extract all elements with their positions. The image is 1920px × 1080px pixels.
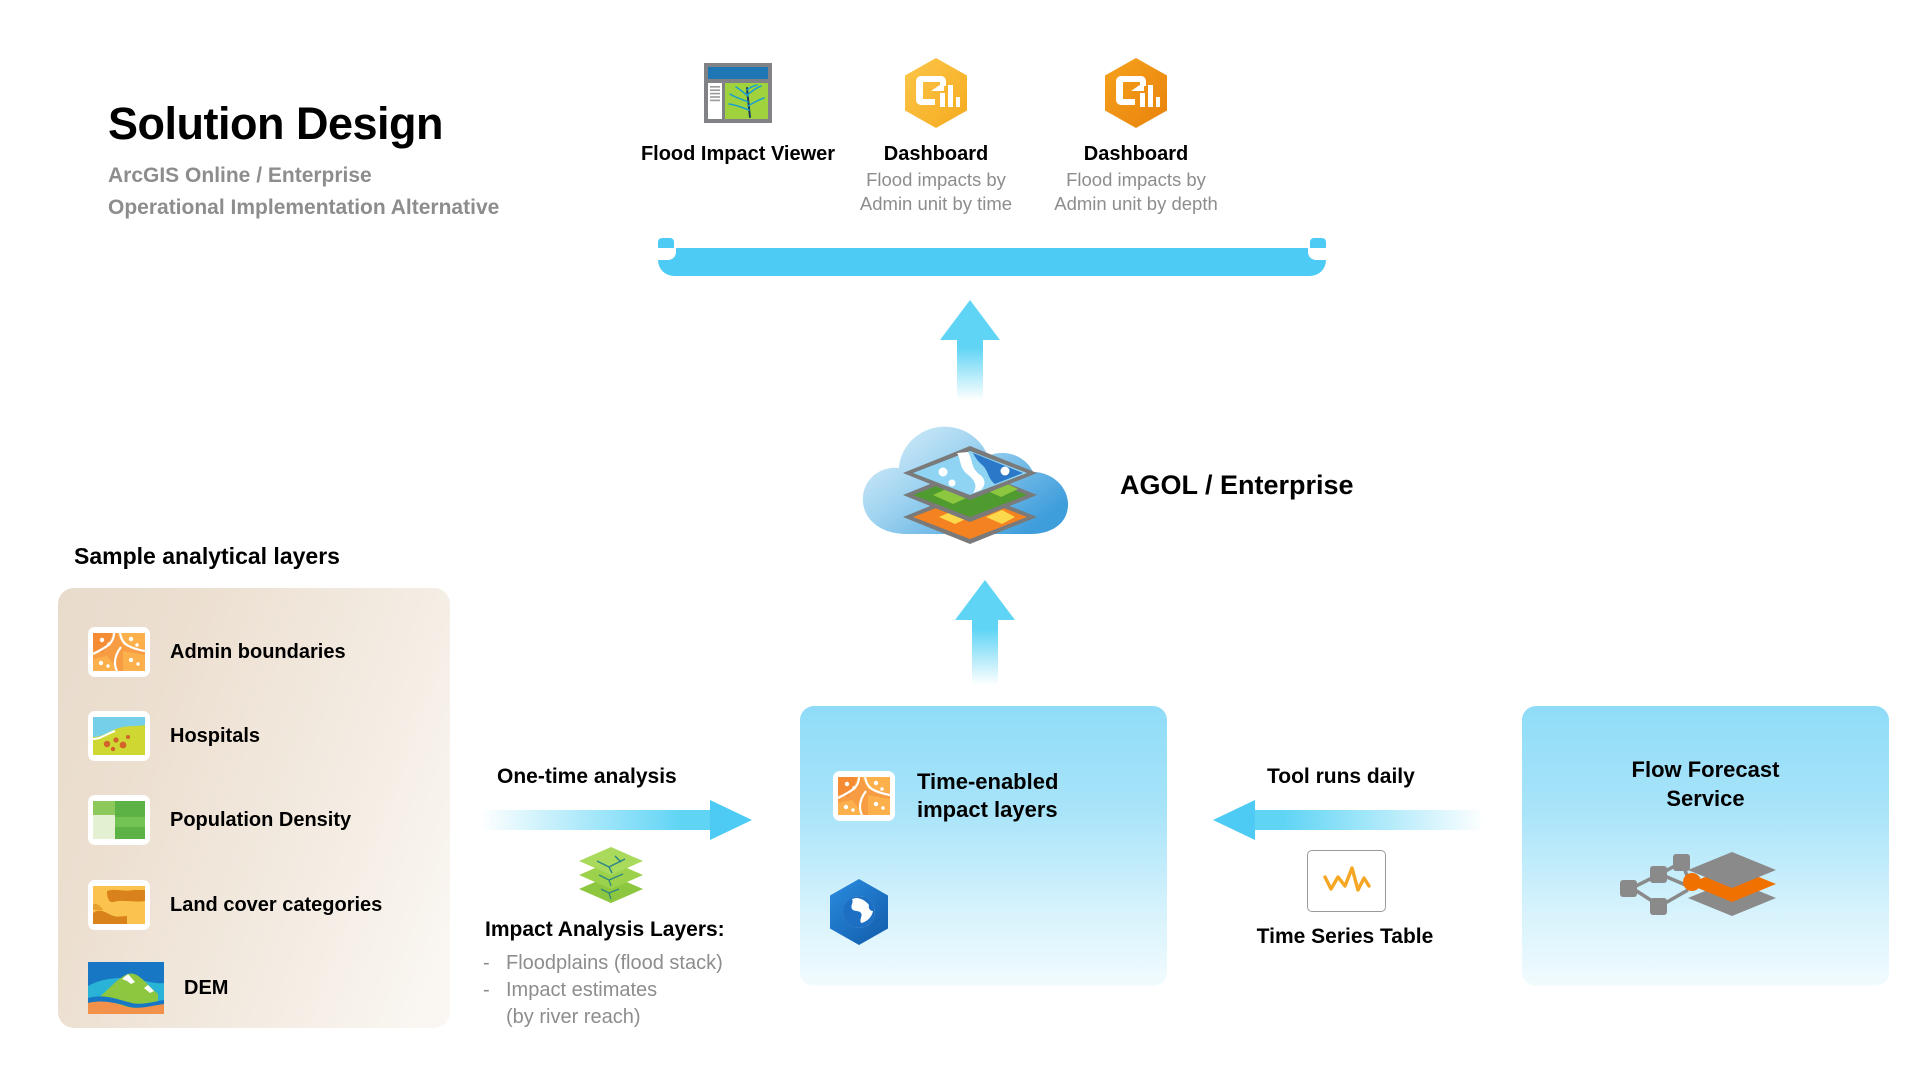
layer-label: Population Density [170,809,351,832]
arrow-cloud-to-apps-icon [935,300,1005,400]
app-card-dashboard-by-depth[interactable]: Dashboard Flood impacts by Admin unit by… [1036,54,1236,215]
center-box-title: Time-enabled impact layers [917,768,1058,824]
arrow-right-one-time-analysis-icon [480,800,752,840]
time-series-chart-icon [1307,850,1386,912]
impact-item-continuation: (by river reach) [506,1004,723,1031]
list-item: - Impact estimates [483,977,723,1004]
app-label-dashboard-by-time: Dashboard [884,142,988,166]
header-subtitle-line-1: ArcGIS Online / Enterprise [108,161,499,191]
globe-hexagon-icon [828,878,890,951]
header-subtitle-line-2: Operational Implementation Alternative [108,193,499,223]
header-block: Solution Design ArcGIS Online / Enterpri… [108,100,499,223]
impact-analysis-layers-list: - Floodplains (flood stack) - Impact est… [483,950,723,1031]
app-row: Flood Impact Viewer [640,54,1320,229]
dashboard-hexagon-icon [903,54,969,132]
population-density-map-icon [88,795,150,845]
land-cover-map-icon [88,880,150,930]
app-card-dashboard-by-time[interactable]: Dashboard Flood impacts by Admin unit by… [836,54,1036,215]
right-box-title: Flow Forecast Service [1522,756,1889,813]
app-label-flood-impact-viewer: Flood Impact Viewer [641,142,835,166]
list-item-dem[interactable]: DEM [88,962,228,1014]
admin-boundaries-map-icon [833,771,895,821]
layer-label: Admin boundaries [170,641,346,664]
arrow-layers-to-cloud-icon [950,580,1020,685]
dem-map-icon [88,962,164,1014]
list-item-population-density[interactable]: Population Density [88,795,351,845]
layer-label: Land cover categories [170,894,382,917]
list-item-land-cover-categories[interactable]: Land cover categories [88,880,382,930]
page-title: Solution Design [108,100,499,147]
app-card-flood-impact-viewer[interactable]: Flood Impact Viewer [640,54,836,168]
list-item-hospitals[interactable]: Hospitals [88,711,260,761]
green-layer-stack-icon [575,845,647,912]
list-item-admin-boundaries[interactable]: Admin boundaries [88,627,346,677]
agol-enterprise-label: AGOL / Enterprise [1120,470,1354,501]
admin-boundaries-map-icon [88,627,150,677]
one-time-analysis-label: One-time analysis [497,765,677,789]
impact-item-label: Impact estimates [506,977,657,1004]
bracket-corner-right [1308,248,1326,260]
center-box-header: Time-enabled impact layers [833,768,1058,824]
tool-runs-daily-label: Tool runs daily [1267,765,1415,789]
cloud-layers-icon [855,412,1085,557]
list-item: - Floodplains (flood stack) [483,950,723,977]
bullet-dash: - [483,950,493,977]
impact-item-label: Floodplains (flood stack) [506,950,723,977]
app-desc-dashboard-by-depth: Flood impacts by Admin unit by depth [1054,168,1218,214]
layer-label: DEM [184,977,228,1000]
apps-group-bracket [658,248,1326,276]
app-desc-dashboard-by-time: Flood impacts by Admin unit by time [860,168,1012,214]
time-series-table-label: Time Series Table [1245,925,1445,949]
flood-impact-viewer-icon [703,54,773,132]
geoprocessing-model-layers-icon [1610,840,1790,935]
arrow-left-tool-runs-daily-icon [1213,800,1485,840]
hospitals-map-icon [88,711,150,761]
app-label-dashboard-by-depth: Dashboard [1084,142,1188,166]
dashboard-hexagon-icon [1103,54,1169,132]
layers-panel-heading: Sample analytical layers [74,543,340,570]
layer-label: Hospitals [170,725,260,748]
bullet-dash: - [483,977,493,1004]
impact-analysis-layers-title: Impact Analysis Layers: [485,918,725,942]
diagram-canvas: Solution Design ArcGIS Online / Enterpri… [0,0,1920,1080]
